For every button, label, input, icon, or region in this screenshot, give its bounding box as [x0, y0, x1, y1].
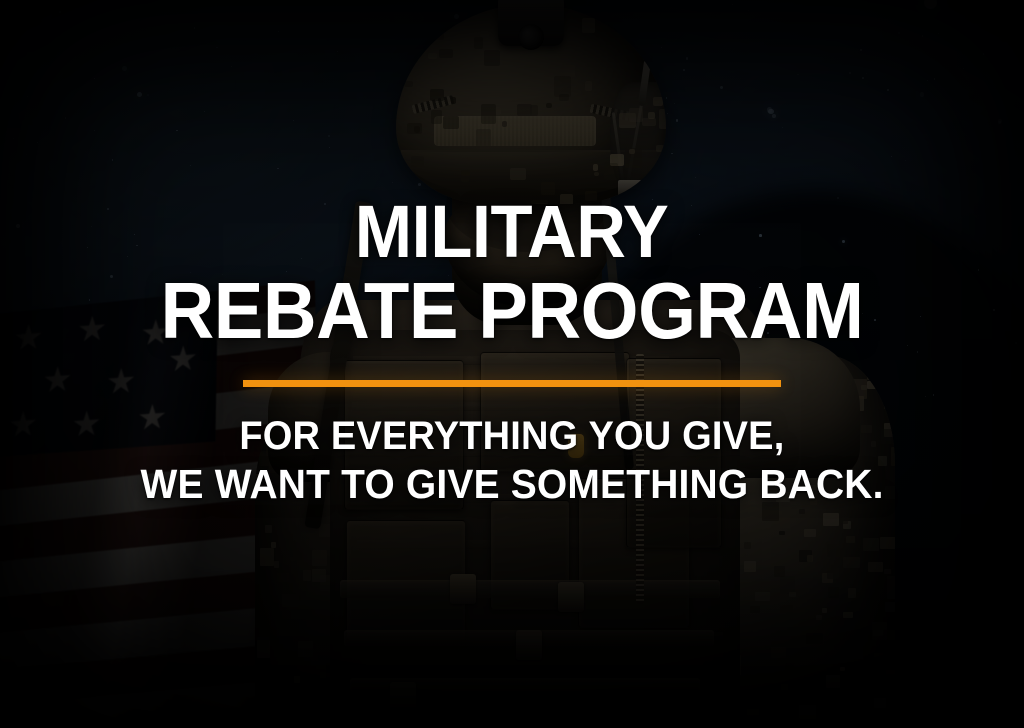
banner-content: MILITARY REBATE PROGRAM FOR EVERYTHING Y…: [0, 0, 1024, 728]
military-rebate-banner: MILITARY REBATE PROGRAM FOR EVERYTHING Y…: [0, 0, 1024, 728]
subheadline-line-1: FOR EVERYTHING YOU GIVE,: [239, 413, 784, 460]
headline-line-2: REBATE PROGRAM: [160, 273, 863, 350]
headline-line-1: MILITARY: [355, 196, 669, 267]
subheadline-line-2: WE WANT TO GIVE SOMETHING BACK.: [140, 460, 883, 508]
orange-divider-rule: [243, 380, 781, 387]
